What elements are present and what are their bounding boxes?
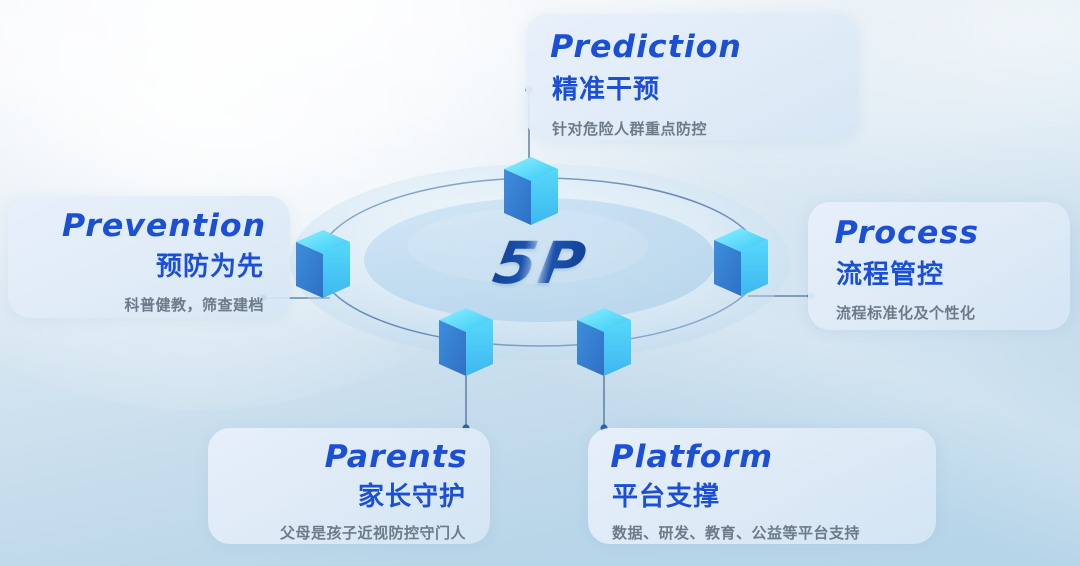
card-prediction-title-cn: 精准干预 xyxy=(552,77,660,103)
card-platform-title-en: Platform xyxy=(610,442,773,473)
card-prevention-subtitle: 科普健教，筛查建档 xyxy=(124,298,264,313)
card-parents-title-en: Parents xyxy=(324,442,467,473)
node-cube-prediction[interactable] xyxy=(502,155,560,229)
card-process-subtitle: 流程标准化及个性化 xyxy=(836,306,976,321)
card-prediction-subtitle: 针对危险人群重点防控 xyxy=(552,122,707,137)
card-parents-subtitle: 父母是孩子近视防控守门人 xyxy=(280,526,466,541)
node-cube-platform[interactable] xyxy=(575,306,633,380)
card-process[interactable]: Process 流程管控 流程标准化及个性化 xyxy=(808,202,1070,330)
card-platform-subtitle: 数据、研发、教育、公益等平台支持 xyxy=(612,526,860,541)
card-parents-title-cn: 家长守护 xyxy=(358,484,466,510)
card-platform-title-cn: 平台支撑 xyxy=(612,484,720,510)
diagram-canvas: 5P xyxy=(0,0,1080,566)
card-prediction[interactable]: Prediction 精准干预 针对危险人群重点防控 xyxy=(526,14,858,140)
node-cube-prevention[interactable] xyxy=(294,228,352,302)
card-prevention-title-cn: 预防为先 xyxy=(156,254,264,280)
node-cube-parents[interactable] xyxy=(437,306,495,380)
card-prediction-title-en: Prediction xyxy=(550,32,742,63)
card-prevention[interactable]: Prevention 预防为先 科普健教，筛查建档 xyxy=(8,196,290,318)
card-platform[interactable]: Platform 平台支撑 数据、研发、教育、公益等平台支持 xyxy=(588,428,936,544)
card-process-title-en: Process xyxy=(835,218,979,249)
connector-parents xyxy=(462,376,469,432)
card-process-title-cn: 流程管控 xyxy=(836,262,944,288)
card-parents[interactable]: Parents 家长守护 父母是孩子近视防控守门人 xyxy=(208,428,490,544)
connector-platform xyxy=(600,376,607,432)
card-prevention-title-en: Prevention xyxy=(62,211,266,242)
node-cube-process[interactable] xyxy=(712,226,770,300)
